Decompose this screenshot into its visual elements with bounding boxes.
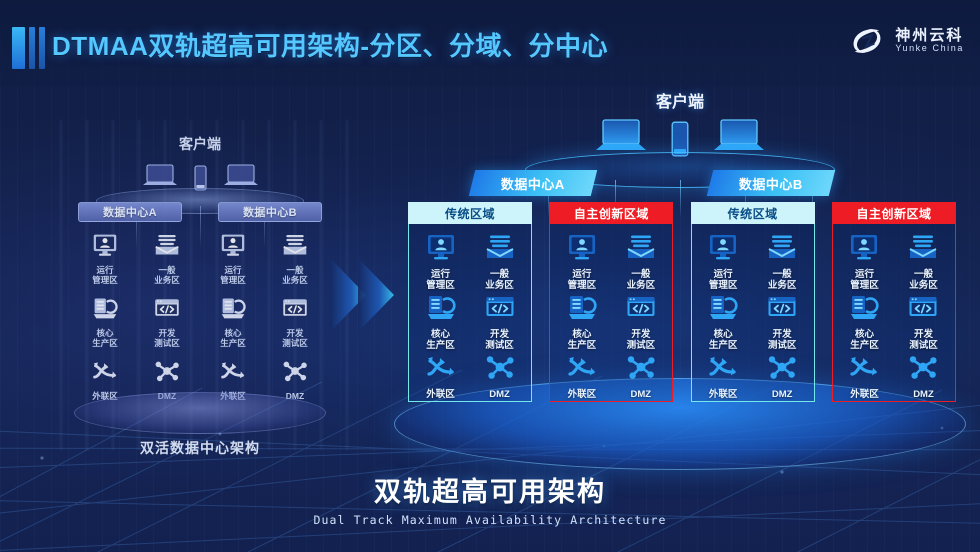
left-datacenter-b-badge[interactable]: 数据中心B [218,202,322,222]
zone-cell-label: 核心生产区 [426,330,455,352]
server-core-icon [92,295,118,326]
zone-cell-label: DMZ [631,390,652,401]
zone-cell-label: 运行管理区 [850,270,879,292]
zone-cell-label: 一般业务区 [627,270,656,292]
zone-cell[interactable]: 开发测试区 [470,292,529,352]
zone-cell-label: 开发测试区 [627,330,656,352]
network-branch-icon [220,358,246,389]
zone-group-innovation[interactable]: 自主创新区域 运行管理区 一般业务区 核心生产区 开发测试区 [832,202,956,402]
inbox-stack-icon [282,232,308,263]
zone-cell[interactable]: 运行管理区 [694,232,753,292]
zone-group-body: 运行管理区 一般业务区 核心生产区 开发测试区 外联区 [832,224,956,402]
bottom-title-cn: 双轨超高可用架构 [0,470,980,509]
zone-cell-label: 开发测试区 [282,329,308,348]
double-chevron-right-icon [322,252,406,338]
zone-cell[interactable]: DMZ [611,352,670,401]
node-cluster-icon [626,352,656,387]
user-monitor-icon [426,232,456,267]
network-branch-icon [426,352,456,387]
inbox-stack-icon [767,232,797,267]
zone-cell[interactable]: 核心生产区 [411,292,470,352]
zone-cell[interactable]: 开发测试区 [264,295,326,348]
zone-cell-label: DMZ [913,390,934,401]
network-branch-icon [567,352,597,387]
legacy-architecture-cluster: 客户端 [70,120,330,450]
zone-cell-label: 开发测试区 [768,330,797,352]
zone-cell[interactable]: 运行管理区 [552,232,611,292]
zone-group-header: 自主创新区域 [549,202,673,224]
zone-cell[interactable]: 一般业务区 [753,232,812,292]
zone-cell[interactable]: 开发测试区 [894,292,953,352]
left-base-platform [74,392,326,434]
zone-cell[interactable]: 外联区 [694,352,753,401]
zone-cell[interactable]: 外联区 [411,352,470,401]
zone-group-body: 运行管理区 一般业务区 核心生产区 开发测试区 外联区 [408,224,532,402]
zone-cell-label: 外联区 [709,390,738,401]
user-monitor-icon [567,232,597,267]
server-core-icon [849,292,879,327]
zone-cell-label: 运行管理区 [92,266,118,285]
zone-cell[interactable]: 开发测试区 [753,292,812,352]
zone-cell-label: 核心生产区 [92,329,118,348]
zone-cell-label: 开发测试区 [909,330,938,352]
zone-cell-label: 核心生产区 [850,330,879,352]
zone-cell[interactable]: 一般业务区 [264,232,326,285]
zone-cell[interactable]: 运行管理区 [74,232,136,285]
zone-cell-label: 运行管理区 [220,266,246,285]
node-cluster-icon [485,352,515,387]
zone-cell[interactable]: 开发测试区 [611,292,670,352]
right-datacenter-b-badge[interactable]: 数据中心B [707,170,835,196]
zone-group-traditional[interactable]: 传统区域 运行管理区 一般业务区 核心生产区 开发测试区 [408,202,532,402]
zone-cell-label: DMZ [772,390,793,401]
left-datacenter-a-zones: 运行管理区 一般业务区 核心生产区 开发测试区 外联区 [74,232,198,402]
zone-group-body: 运行管理区 一般业务区 核心生产区 开发测试区 外联区 [549,224,673,402]
zone-cell-label: 运行管理区 [426,270,455,292]
zone-cell[interactable]: 运行管理区 [202,232,264,285]
zone-group-innovation[interactable]: 自主创新区域 运行管理区 一般业务区 核心生产区 开发测试区 [549,202,673,402]
zone-cell[interactable]: 一般业务区 [136,232,198,285]
zone-cell-label: 一般业务区 [282,266,308,285]
user-monitor-icon [220,232,246,263]
zone-cell[interactable]: 一般业务区 [470,232,529,292]
brand-name: 神州云科 Yunke China [895,28,964,54]
zone-cell[interactable]: 开发测试区 [136,295,198,348]
zone-cell-label: 一般业务区 [485,270,514,292]
bottom-title-en: Dual Track Maximum Availability Architec… [0,513,980,527]
network-branch-icon [849,352,879,387]
left-datacenter-b-zones: 运行管理区 一般业务区 核心生产区 开发测试区 外联区 [202,232,326,402]
zone-cell-label: 核心生产区 [220,329,246,348]
dtmaa-architecture-cluster: 客户端 [400,88,960,488]
zone-cell-label: 开发测试区 [154,329,180,348]
left-datacenter-a-badge[interactable]: 数据中心A [78,202,182,222]
inbox-stack-icon [154,232,180,263]
zone-cell[interactable]: DMZ [894,352,953,401]
zone-cell[interactable]: 外联区 [552,352,611,401]
brand-logo: 神州云科 Yunke China [848,22,964,60]
zone-cell[interactable]: DMZ [753,352,812,401]
zone-cell[interactable]: 核心生产区 [202,295,264,348]
server-core-icon [426,292,456,327]
network-branch-icon [708,352,738,387]
right-datacenter-a-badge[interactable]: 数据中心A [469,170,597,196]
zone-cell-label: 外联区 [426,390,455,401]
left-zone-grid: 运行管理区 一般业务区 核心生产区 开发测试区 外联区 [70,232,330,402]
brand-name-cn: 神州云科 [895,28,964,44]
user-monitor-icon [708,232,738,267]
node-cluster-icon [282,358,308,389]
slide-header: DTMAA双轨超高可用架构-分区、分域、分中心 神州云科 Yunke China [0,0,980,86]
zone-cell-label: 运行管理区 [568,270,597,292]
zone-cell-label: 外联区 [568,390,597,401]
right-client-label: 客户端 [400,88,960,112]
zone-cell[interactable]: 核心生产区 [74,295,136,348]
code-window-icon [767,292,797,327]
code-window-icon [626,292,656,327]
code-window-icon [908,292,938,327]
inbox-stack-icon [485,232,515,267]
right-datacenter-a-badge-label: 数据中心A [501,174,565,193]
zone-cell[interactable]: 核心生产区 [694,292,753,352]
zone-group-header: 自主创新区域 [832,202,956,224]
zone-cell[interactable]: 一般业务区 [611,232,670,292]
zone-cell[interactable]: 运行管理区 [835,232,894,292]
user-monitor-icon [849,232,879,267]
zone-cell-label: 一般业务区 [768,270,797,292]
zone-cell-label: 开发测试区 [485,330,514,352]
user-monitor-icon [92,232,118,263]
zone-groups: 传统区域 运行管理区 一般业务区 核心生产区 开发测试区 [408,202,956,402]
bottom-title: 双轨超高可用架构 Dual Track Maximum Availability… [0,470,980,527]
zone-cell[interactable]: 核心生产区 [835,292,894,352]
zone-cell-label: 外联区 [850,390,879,401]
zone-group-body: 运行管理区 一般业务区 核心生产区 开发测试区 外联区 [691,224,815,402]
inbox-stack-icon [626,232,656,267]
node-cluster-icon [767,352,797,387]
server-core-icon [220,295,246,326]
zone-cell[interactable]: DMZ [470,352,529,401]
zone-cell[interactable]: 核心生产区 [552,292,611,352]
zone-group-header: 传统区域 [408,202,532,224]
zone-cell-label: 核心生产区 [568,330,597,352]
zone-group-traditional[interactable]: 传统区域 运行管理区 一般业务区 核心生产区 开发测试区 [691,202,815,402]
swirl-logo-icon [848,22,886,60]
slide-canvas: DTMAA双轨超高可用架构-分区、分域、分中心 神州云科 Yunke China… [0,0,980,552]
zone-cell[interactable]: 运行管理区 [411,232,470,292]
network-branch-icon [92,358,118,389]
page-title: DTMAA双轨超高可用架构-分区、分域、分中心 [52,26,608,63]
header-accent-bars-icon [12,27,45,69]
left-datacenter-badges: 数据中心A 数据中心B [70,202,330,222]
zone-cell[interactable]: 外联区 [835,352,894,401]
zone-cell-label: 核心生产区 [709,330,738,352]
node-cluster-icon [154,358,180,389]
right-datacenter-b-badge-label: 数据中心B [739,174,803,193]
zone-cell-label: DMZ [489,390,510,401]
zone-cell-label: 一般业务区 [154,266,180,285]
zone-cell-label: 运行管理区 [709,270,738,292]
brand-name-en: Yunke China [895,44,964,54]
code-window-icon [154,295,180,326]
left-cluster-caption: 双活数据中心架构 [70,438,330,458]
zone-cell[interactable]: 一般业务区 [894,232,953,292]
code-window-icon [485,292,515,327]
zone-group-header: 传统区域 [691,202,815,224]
inbox-stack-icon [908,232,938,267]
code-window-icon [282,295,308,326]
server-core-icon [708,292,738,327]
server-core-icon [567,292,597,327]
left-client-label: 客户端 [70,134,330,154]
node-cluster-icon [908,352,938,387]
zone-cell-label: 一般业务区 [909,270,938,292]
